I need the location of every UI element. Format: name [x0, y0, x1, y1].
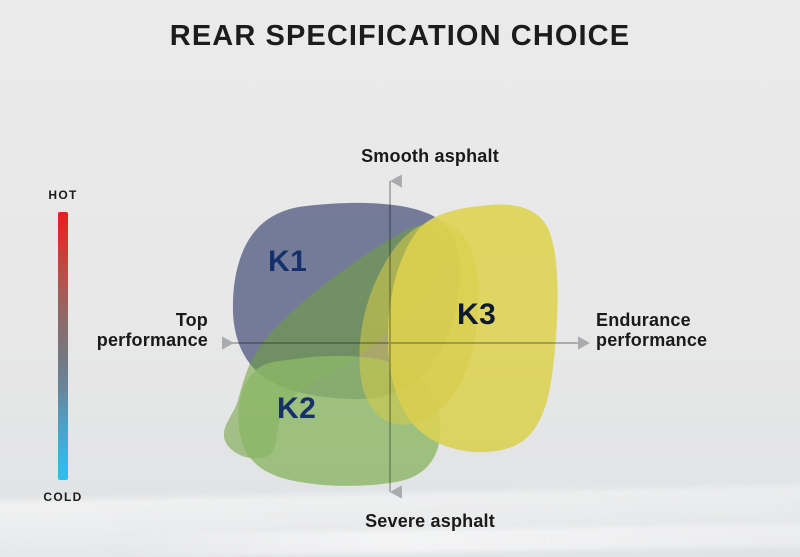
- axis-label-smooth-asphalt: Smooth asphalt: [330, 146, 530, 166]
- quadrant-chart: Smooth asphalt Severe asphalt Top perfor…: [0, 0, 800, 557]
- axis-label-severe-asphalt: Severe asphalt: [330, 511, 530, 531]
- region-label-k1: K1: [268, 245, 307, 279]
- axis-label-top-performance: Top performance: [40, 310, 208, 350]
- region-label-k2: K2: [277, 392, 316, 426]
- screenshot-root: REAR SPECIFICATION CHOICE HOT COLD: [0, 0, 800, 557]
- axis-label-endurance-performance: Endurance performance: [596, 310, 786, 350]
- chart-canvas: [0, 0, 800, 557]
- region-label-k3: K3: [457, 298, 496, 332]
